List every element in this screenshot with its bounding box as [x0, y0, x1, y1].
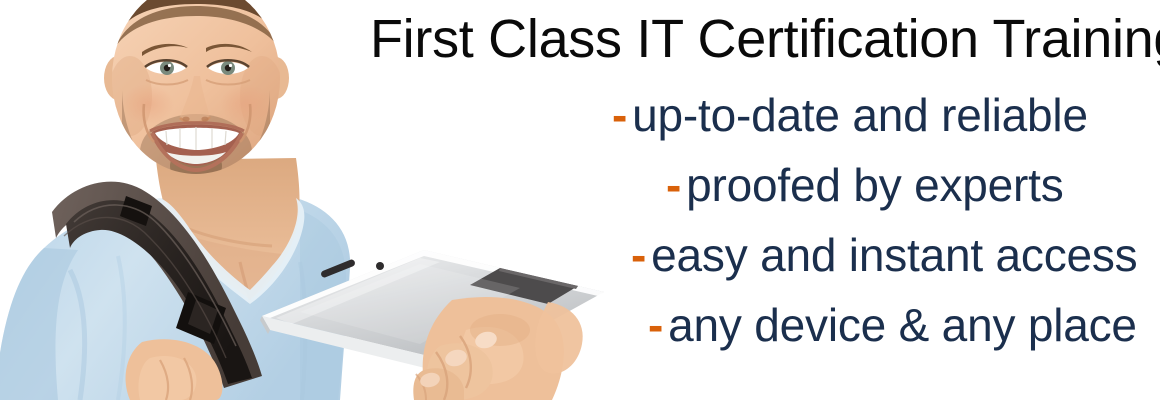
feature-bullet-1-label: proofed by experts	[686, 159, 1063, 211]
feature-bullet-0: -up-to-date and reliable	[612, 89, 1088, 141]
feature-bullet-3-label: any device & any place	[668, 299, 1137, 351]
bullet-dash-icon: -	[648, 299, 668, 351]
bullet-dash-icon: -	[666, 159, 686, 211]
feature-bullet-1: -proofed by experts	[666, 159, 1064, 211]
bullet-dash-icon: -	[631, 229, 651, 281]
marketing-copy: First Class IT Certification Training -u…	[360, 0, 1150, 400]
feature-bullet-2: -easy and instant access	[631, 229, 1137, 281]
page-title: First Class IT Certification Training	[370, 9, 1160, 69]
promo-banner: First Class IT Certification Training -u…	[0, 0, 1160, 400]
feature-bullet-2-label: easy and instant access	[651, 229, 1137, 281]
feature-bullet-0-label: up-to-date and reliable	[632, 89, 1088, 141]
bullet-dash-icon: -	[612, 89, 632, 141]
feature-bullet-3: -any device & any place	[648, 299, 1137, 351]
